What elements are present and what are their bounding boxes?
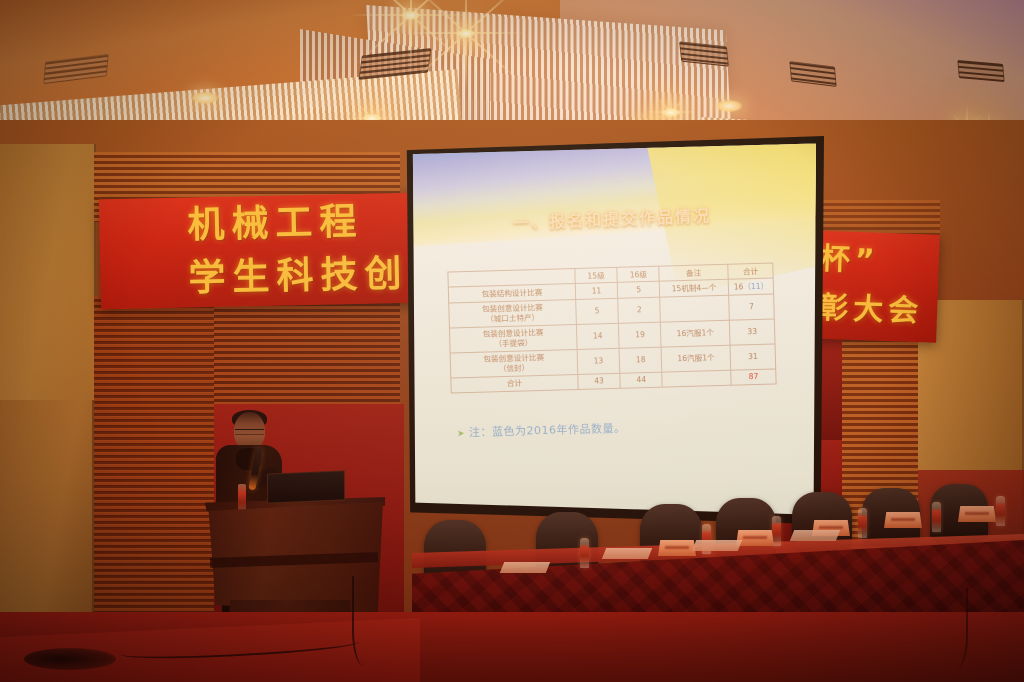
- row-4-name-text: 包装创意设计比赛: [483, 353, 544, 364]
- floor-cable-3: [940, 588, 968, 668]
- glasses-icon: [235, 429, 264, 435]
- slide-note: ➤注：蓝色为2016年作品数量。: [457, 419, 626, 440]
- table-paper-4: [790, 530, 840, 541]
- row-3-grade15: 14: [576, 323, 619, 349]
- laptop[interactable]: [267, 470, 345, 503]
- row-1-total-blue: （11）: [743, 281, 768, 291]
- left-red-banner: 机械工程 学生科技创: [99, 193, 421, 310]
- left-banner-line-2: 学生科技创: [100, 248, 421, 307]
- table-paper-3: [692, 540, 742, 551]
- cable-pile: [24, 648, 116, 670]
- row-4-name: 包装创意设计比赛 （信封）: [450, 349, 578, 378]
- table-paper-1: [500, 562, 550, 573]
- water-bottle-6[interactable]: [996, 496, 1005, 526]
- row-2-name: 包装创意设计比赛 （城口土特产）: [449, 299, 577, 328]
- row-2-grade16: 2: [618, 297, 661, 323]
- row-2-remark: [660, 295, 729, 322]
- table-header-grade16: 16级: [617, 266, 660, 283]
- conference-hall-scene: 机械工程 学生科技创 工杯” 表彰大会 一、报名和提交作品情况 15级 16级 …: [0, 0, 1024, 682]
- table-header-total: 合计: [727, 263, 773, 280]
- row-3-name-sub: （手提袋）: [494, 338, 532, 348]
- name-card-4[interactable]: [884, 512, 922, 528]
- row-2-name-sub: （城口土特产）: [486, 313, 539, 323]
- table-paper-2: [602, 548, 652, 559]
- row-1-name-text: 包装结构设计比赛: [481, 288, 542, 299]
- water-bottle-4[interactable]: [858, 508, 867, 538]
- row-4-remark: 16汽服1个: [661, 345, 730, 372]
- summary-grade15: 43: [577, 373, 620, 390]
- ceiling-downlight-1: [192, 92, 218, 104]
- table-header-grade15: 15级: [575, 267, 618, 284]
- summary-total: 87: [730, 369, 776, 386]
- slide-data-table: 15级 16级 备注 合计 包装结构设计比赛 11 5 15机制4—个 16（1…: [447, 262, 777, 393]
- slat-wall-behind-podium: [94, 296, 214, 636]
- row-4-name-sub: （信封）: [499, 363, 530, 373]
- row-2-grade15: 5: [575, 298, 618, 324]
- floor-cable-2: [352, 576, 382, 666]
- podium-water-bottle[interactable]: [238, 484, 246, 510]
- row-4-total: 31: [730, 344, 776, 370]
- table-header-remark: 备注: [659, 264, 728, 281]
- name-card-2[interactable]: [736, 530, 774, 546]
- slide-note-text: 注：蓝色为2016年作品数量。: [469, 421, 626, 438]
- row-3-grade16: 19: [618, 322, 661, 348]
- row-2-total: 7: [728, 294, 774, 320]
- bullet-arrow-icon: ➤: [457, 429, 465, 439]
- row-1-total: 16（11）: [728, 278, 774, 295]
- wood-wall-panel-left-lower: [0, 400, 94, 638]
- row-4-grade15: 13: [577, 348, 620, 374]
- summary-grade16: 44: [620, 372, 663, 389]
- row-3-total: 33: [729, 319, 775, 345]
- row-3-remark: 16汽服1个: [661, 320, 730, 347]
- projection-screen[interactable]: 一、报名和提交作品情况 15级 16级 备注 合计 包装结构设计比赛 11 5 …: [408, 142, 816, 520]
- row-1-grade15: 11: [575, 283, 618, 300]
- water-bottle-5[interactable]: [932, 502, 941, 532]
- summary-remark: [662, 370, 731, 387]
- row-1-remark: 15机制4—个: [660, 279, 729, 296]
- name-card-5[interactable]: [958, 506, 996, 522]
- name-card-1[interactable]: [658, 540, 696, 556]
- row-3-name: 包装创意设计比赛 （手提袋）: [449, 324, 577, 353]
- ceiling-downlight-2: [716, 100, 742, 112]
- left-banner-line-1: 机械工程: [99, 195, 420, 254]
- row-1-total-value: 16: [733, 282, 743, 291]
- row-1-grade16: 5: [617, 281, 660, 298]
- row-3-name-text: 包装创意设计比赛: [482, 328, 543, 339]
- summary-label: 合计: [451, 374, 578, 393]
- row-4-grade16: 18: [619, 347, 662, 373]
- water-bottle-1[interactable]: [580, 538, 589, 568]
